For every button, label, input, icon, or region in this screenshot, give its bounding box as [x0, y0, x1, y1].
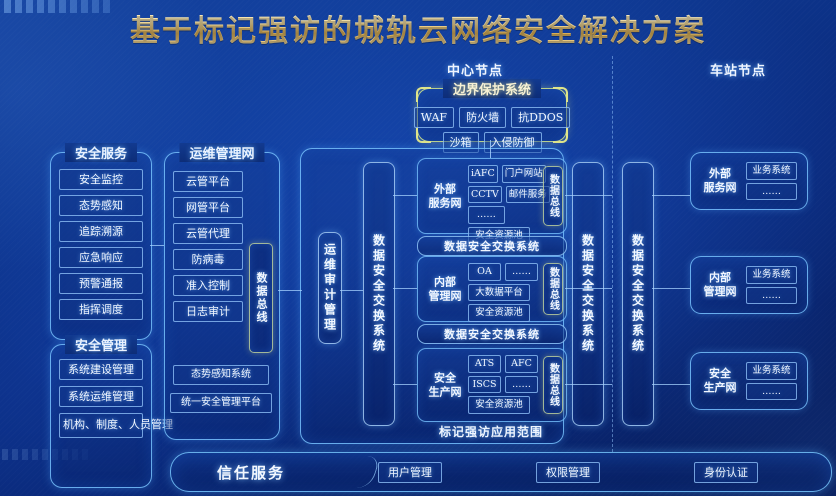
- chip-log-audit[interactable]: 日志审计: [173, 301, 243, 322]
- chip-antivirus[interactable]: 防病毒: [173, 249, 243, 270]
- station-item-list: 业务系统 ……: [746, 162, 797, 200]
- chip-permission-management[interactable]: 权限管理: [536, 462, 600, 483]
- zone-grid-secure-production: ATS AFC ISCS …… 安全资源池: [468, 355, 538, 415]
- panel-title-ops-management-network: 运维管理网: [179, 143, 264, 162]
- connector-service-to-ops: [150, 245, 164, 246]
- panel-border-protection: 边界保护系统 WAF 防火墙 抗DDOS 沙箱 入侵防御: [417, 88, 567, 142]
- vbar-data-secure-exchange-right-1: 数据安全交换系统: [572, 162, 604, 426]
- strip-data-secure-exchange-1: 数据安全交换系统: [417, 236, 567, 256]
- ops-data-bus: 数据总线: [249, 243, 273, 353]
- station-name-external-service: 外部 服务网: [701, 167, 739, 196]
- chip-system-ops-management[interactable]: 系统运维管理: [59, 386, 143, 407]
- zone-row: ISCS ……: [468, 376, 538, 394]
- zone-name-internal-management: 内部 管理网: [424, 275, 466, 303]
- zone-name-external-service: 外部 服务网: [424, 182, 466, 210]
- center-station-divider: [612, 56, 613, 452]
- connector-internal-to-dsx-right: [565, 288, 612, 289]
- label-marking-access-scope: 标记强访应用范围: [417, 423, 565, 440]
- chip-access-control[interactable]: 准入控制: [173, 275, 243, 296]
- connector-audit-to-dsx: [340, 290, 363, 291]
- chip-afc[interactable]: AFC: [505, 355, 538, 373]
- chip-identity-authentication[interactable]: 身份认证: [694, 462, 758, 483]
- panel-security-management: 安全管理 系统建设管理 系统运维管理 机构、制度、人员管理: [50, 344, 152, 488]
- panel-security-service: 安全服务 安全监控 态势感知 追踪溯源 应急响应 预警通报 指挥调度: [50, 152, 152, 340]
- chip-ellipsis: ……: [746, 383, 797, 401]
- trust-service-bar: 信任服务 用户管理 权限管理 身份认证: [170, 452, 832, 492]
- zone-row: CCTV 邮件服务: [468, 186, 538, 204]
- chip-situation-awareness[interactable]: 态势感知: [59, 195, 143, 216]
- chip-security-monitor[interactable]: 安全监控: [59, 169, 143, 190]
- chip-security-resource-pool[interactable]: 安全资源池: [468, 396, 530, 414]
- panel-ops-management-network: 运维管理网 云管平台 网管平台 云管代理 防病毒 准入控制 日志审计 态势感知系…: [164, 152, 280, 440]
- station-item-list: 业务系统 ……: [746, 362, 797, 400]
- chip-command-dispatch[interactable]: 指挥调度: [59, 299, 143, 320]
- chip-iscs[interactable]: ISCS: [468, 376, 501, 394]
- chip-ellipsis: ……: [505, 263, 538, 281]
- vbar-data-secure-exchange-right-2: 数据安全交换系统: [622, 162, 654, 426]
- zone-secure-production-network: 安全 生产网 ATS AFC ISCS …… 安全资源池 数据总线: [417, 348, 567, 422]
- panel-title-border-protection: 边界保护系统: [443, 79, 541, 98]
- panel-title-security-service: 安全服务: [65, 143, 137, 162]
- connector-dsx-to-internal: [393, 288, 417, 289]
- zone-grid-internal-management: OA …… 大数据平台 安全资源池: [468, 263, 538, 315]
- zone-internal-management-network: 内部 管理网 OA …… 大数据平台 安全资源池 数据总线: [417, 256, 567, 322]
- zone-row: 大数据平台: [468, 284, 538, 302]
- chip-business-system[interactable]: 业务系统: [746, 266, 797, 284]
- chip-alert-notification[interactable]: 预警通报: [59, 273, 143, 294]
- chip-big-data-platform[interactable]: 大数据平台: [468, 284, 530, 302]
- corner-bracket-icon: [553, 87, 568, 102]
- ops-item-list: 云管平台 网管平台 云管代理 防病毒 准入控制 日志审计: [173, 171, 243, 322]
- chip-business-system[interactable]: 业务系统: [746, 162, 797, 180]
- chip-portal-website[interactable]: 门户网站: [502, 165, 546, 183]
- diagram-canvas: 基于标记强访的城轨云网络安全解决方案 中心节点 车站节点 安全服务 安全监控 态…: [0, 0, 836, 496]
- zone-row: iAFC 门户网站: [468, 165, 538, 183]
- chip-ellipsis: ……: [746, 183, 797, 201]
- chip-network-mgmt-platform[interactable]: 网管平台: [173, 197, 243, 218]
- station-name-secure-production: 安全 生产网: [701, 367, 739, 396]
- corner-bracket-icon: [416, 87, 431, 102]
- security-service-item-list: 安全监控 态势感知 追踪溯源 应急响应 预警通报 指挥调度: [59, 169, 143, 320]
- border-protection-row-1: WAF 防火墙 抗DDOS: [424, 107, 560, 128]
- trust-service-title: 信任服务: [171, 462, 331, 483]
- station-name-internal-management: 内部 管理网: [701, 271, 739, 300]
- chip-user-management[interactable]: 用户管理: [378, 462, 442, 483]
- connector-dsx-to-station-internal: [652, 288, 690, 289]
- label-center-node: 中心节点: [447, 60, 503, 79]
- station-box-external-service-network: 外部 服务网 业务系统 ……: [690, 152, 808, 210]
- chip-cloud-mgmt-agent[interactable]: 云管代理: [173, 223, 243, 244]
- zone-grid-external-service: iAFC 门户网站 CCTV 邮件服务 …… 安全资源池: [468, 165, 538, 227]
- chip-cloud-mgmt-platform[interactable]: 云管平台: [173, 171, 243, 192]
- security-management-item-list: 系统建设管理 系统运维管理 机构、制度、人员管理: [59, 359, 143, 438]
- zone-row: 安全资源池: [468, 396, 538, 414]
- chip-firewall[interactable]: 防火墙: [459, 107, 506, 128]
- connector-border-vertical: [490, 140, 491, 158]
- chip-system-construction-management[interactable]: 系统建设管理: [59, 359, 143, 380]
- chip-security-resource-pool[interactable]: 安全资源池: [468, 304, 530, 322]
- connector-production-to-dsx-right: [565, 384, 612, 385]
- chip-situation-awareness-system[interactable]: 态势感知系统: [173, 365, 269, 385]
- page-title: 基于标记强访的城轨云网络安全解决方案: [0, 6, 836, 50]
- connector-dsx-to-station-production: [652, 384, 690, 385]
- chip-trace-source[interactable]: 追踪溯源: [59, 221, 143, 242]
- zone-row: ATS AFC: [468, 355, 538, 373]
- panel-title-security-management: 安全管理: [65, 335, 137, 354]
- chip-ellipsis: ……: [746, 287, 797, 305]
- chip-iafc[interactable]: iAFC: [468, 165, 498, 183]
- zone-name-secure-production: 安全 生产网: [424, 371, 466, 399]
- chip-oa[interactable]: OA: [468, 263, 501, 281]
- chip-ellipsis: ……: [505, 376, 538, 394]
- connector-ops-to-center: [278, 290, 302, 291]
- zone-data-bus-internal: 数据总线: [543, 263, 563, 315]
- zone-row: 安全资源池: [468, 304, 538, 322]
- chip-business-system[interactable]: 业务系统: [746, 362, 797, 380]
- station-box-internal-management-network: 内部 管理网 业务系统 ……: [690, 256, 808, 314]
- chip-ellipsis: ……: [468, 206, 505, 224]
- chip-emergency-response[interactable]: 应急响应: [59, 247, 143, 268]
- trust-service-item-list: 用户管理 权限管理 身份认证: [331, 462, 831, 483]
- zone-row: OA ……: [468, 263, 538, 281]
- connector-dsx-to-external: [393, 195, 417, 196]
- zone-data-bus-production: 数据总线: [543, 356, 563, 414]
- chip-cctv[interactable]: CCTV: [468, 186, 502, 204]
- connector-dsx-to-station-external: [652, 195, 690, 196]
- chip-anti-ddos[interactable]: 抗DDOS: [511, 107, 570, 128]
- zone-data-bus-external: 数据总线: [543, 166, 563, 226]
- vbar-ops-audit-management: 运维审计管理: [318, 232, 342, 344]
- vbar-data-secure-exchange-center: 数据安全交换系统: [363, 162, 395, 426]
- border-protection-body: WAF 防火墙 抗DDOS 沙箱 入侵防御: [424, 107, 560, 153]
- station-item-list: 业务系统 ……: [746, 266, 797, 304]
- chip-unified-security-mgmt-platform[interactable]: 统一安全管理平台: [170, 393, 272, 413]
- chip-waf[interactable]: WAF: [414, 107, 454, 128]
- zone-external-service-network: 外部 服务网 iAFC 门户网站 CCTV 邮件服务 …… 安全资源池 数据总线: [417, 158, 567, 234]
- station-box-secure-production-network: 安全 生产网 业务系统 ……: [690, 352, 808, 410]
- chip-ats[interactable]: ATS: [468, 355, 501, 373]
- zone-row: ……: [468, 206, 538, 224]
- connector-dsx-to-production: [393, 384, 417, 385]
- strip-data-secure-exchange-2: 数据安全交换系统: [417, 324, 567, 344]
- connector-external-to-dsx-right: [565, 195, 612, 196]
- chip-org-policy-personnel-management[interactable]: 机构、制度、人员管理: [59, 413, 143, 438]
- label-station-node: 车站节点: [710, 60, 766, 79]
